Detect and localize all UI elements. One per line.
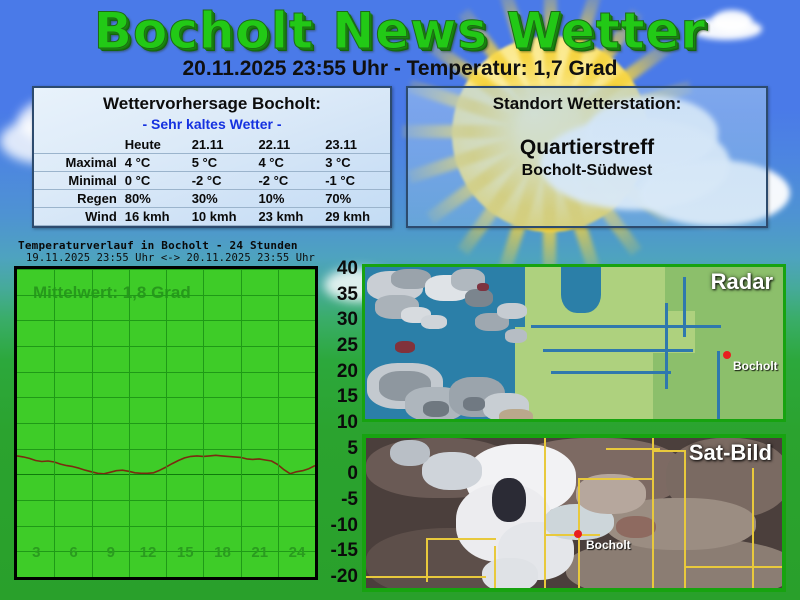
- temperature-chart: Mittelwert: 1,8 Grad 3691215182124: [14, 266, 318, 580]
- chart-gridline-v: [278, 269, 279, 577]
- column-header: 21.11: [190, 136, 257, 154]
- chart-gridline-v: [54, 269, 55, 577]
- forecast-panel: Wettervorhersage Bocholt: - Sehr kaltes …: [32, 86, 392, 228]
- radar-label: Radar: [711, 269, 773, 295]
- row-label: Wind: [34, 208, 123, 226]
- table-cell: 30%: [190, 190, 257, 208]
- table-cell: 5 °C: [190, 154, 257, 172]
- forecast-slogan: - Sehr kaltes Wetter -: [34, 116, 390, 132]
- station-title: Standort Wetterstation:: [408, 94, 766, 114]
- chart-x-tick-label: 6: [69, 544, 77, 561]
- table-cell: 80%: [123, 190, 190, 208]
- chart-y-axis: 4035302520151050-5-10-15-20: [320, 266, 360, 580]
- table-cell: -2 °C: [190, 172, 257, 190]
- chart-y-tick-label: -10: [331, 515, 358, 537]
- table-cell: 70%: [323, 190, 390, 208]
- table-cell: -2 °C: [256, 172, 323, 190]
- chart-x-tick-label: 15: [177, 544, 194, 561]
- radar-panel[interactable]: Radar Bocholt: [362, 264, 786, 422]
- column-header: 22.11: [256, 136, 323, 154]
- table-header-row: Heute 21.11 22.11 23.11: [34, 136, 390, 154]
- page-title: Bocholt News Wetter: [0, 2, 800, 60]
- station-panel: Standort Wetterstation: Quartierstreff B…: [406, 86, 768, 228]
- table-cell: 10 kmh: [190, 208, 257, 226]
- radar-city-marker: [723, 351, 731, 359]
- chart-x-tick-label: 18: [214, 544, 231, 561]
- chart-y-tick-label: 15: [337, 386, 358, 408]
- table-row: Maximal 4 °C 5 °C 4 °C 3 °C: [34, 154, 390, 172]
- table-cell: 3 °C: [323, 154, 390, 172]
- chart-x-tick-label: 21: [251, 544, 268, 561]
- chart-y-tick-label: 25: [337, 335, 358, 357]
- forecast-table: Heute 21.11 22.11 23.11 Maximal 4 °C 5 °…: [34, 136, 390, 226]
- chart-gridline-v: [315, 269, 316, 577]
- chart-title: Temperaturverlauf in Bocholt - 24 Stunde…: [18, 239, 298, 252]
- chart-x-tick-label: 3: [32, 544, 40, 561]
- chart-y-tick-label: -15: [331, 540, 358, 562]
- column-header: 23.11: [323, 136, 390, 154]
- table-cell: 23 kmh: [256, 208, 323, 226]
- table-cell: 10%: [256, 190, 323, 208]
- chart-y-tick-label: -5: [341, 489, 358, 511]
- weather-dashboard: Bocholt News Wetter 20.11.2025 23:55 Uhr…: [0, 0, 800, 600]
- chart-subtitle: 19.11.2025 23:55 Uhr <-> 20.11.2025 23:5…: [26, 252, 315, 264]
- chart-gridline-v: [166, 269, 167, 577]
- table-row: Regen 80% 30% 10% 70%: [34, 190, 390, 208]
- table-row: Minimal 0 °C -2 °C -2 °C -1 °C: [34, 172, 390, 190]
- chart-y-tick-label: 35: [337, 284, 358, 306]
- chart-gridline-h: [17, 577, 315, 578]
- chart-gridline-v: [129, 269, 130, 577]
- row-label: Minimal: [34, 172, 123, 190]
- station-name: Quartierstreff: [408, 136, 766, 160]
- chart-y-tick-label: -20: [331, 566, 358, 588]
- column-header: Heute: [123, 136, 190, 154]
- chart-gridline-v: [241, 269, 242, 577]
- chart-plot-area: Mittelwert: 1,8 Grad 3691215182124: [17, 269, 315, 577]
- table-row: Wind 16 kmh 10 kmh 23 kmh 29 kmh: [34, 208, 390, 226]
- table-cell: 4 °C: [123, 154, 190, 172]
- table-cell: -1 °C: [323, 172, 390, 190]
- row-label: Maximal: [34, 154, 123, 172]
- chart-y-tick-label: 5: [347, 438, 358, 460]
- chart-gridline-v: [92, 269, 93, 577]
- chart-y-tick-label: 30: [337, 309, 358, 331]
- table-cell: 0 °C: [123, 172, 190, 190]
- station-district: Bocholt-Südwest: [408, 162, 766, 180]
- table-cell: 4 °C: [256, 154, 323, 172]
- chart-x-tick-label: 24: [289, 544, 306, 561]
- satellite-city-label: Bocholt: [586, 538, 631, 552]
- chart-x-tick-label: 9: [107, 544, 115, 561]
- chart-mean-annotation: Mittelwert: 1,8 Grad: [33, 283, 191, 303]
- table-cell: 29 kmh: [323, 208, 390, 226]
- satellite-label: Sat-Bild: [689, 440, 772, 466]
- satellite-panel[interactable]: Sat-Bild Bocholt: [362, 434, 786, 592]
- radar-city-label: Bocholt: [733, 359, 778, 373]
- chart-y-tick-label: 20: [337, 361, 358, 383]
- chart-y-tick-label: 0: [347, 463, 358, 485]
- forecast-title: Wettervorhersage Bocholt:: [34, 94, 390, 114]
- table-cell: 16 kmh: [123, 208, 190, 226]
- chart-gridline-v: [203, 269, 204, 577]
- chart-x-tick-label: 12: [140, 544, 157, 561]
- satellite-city-marker: [574, 530, 582, 538]
- table-corner-cell: [34, 136, 123, 154]
- page-subtitle: 20.11.2025 23:55 Uhr - Temperatur: 1,7 G…: [0, 57, 800, 81]
- chart-y-tick-label: 10: [337, 412, 358, 434]
- row-label: Regen: [34, 190, 123, 208]
- chart-y-tick-label: 40: [337, 258, 358, 280]
